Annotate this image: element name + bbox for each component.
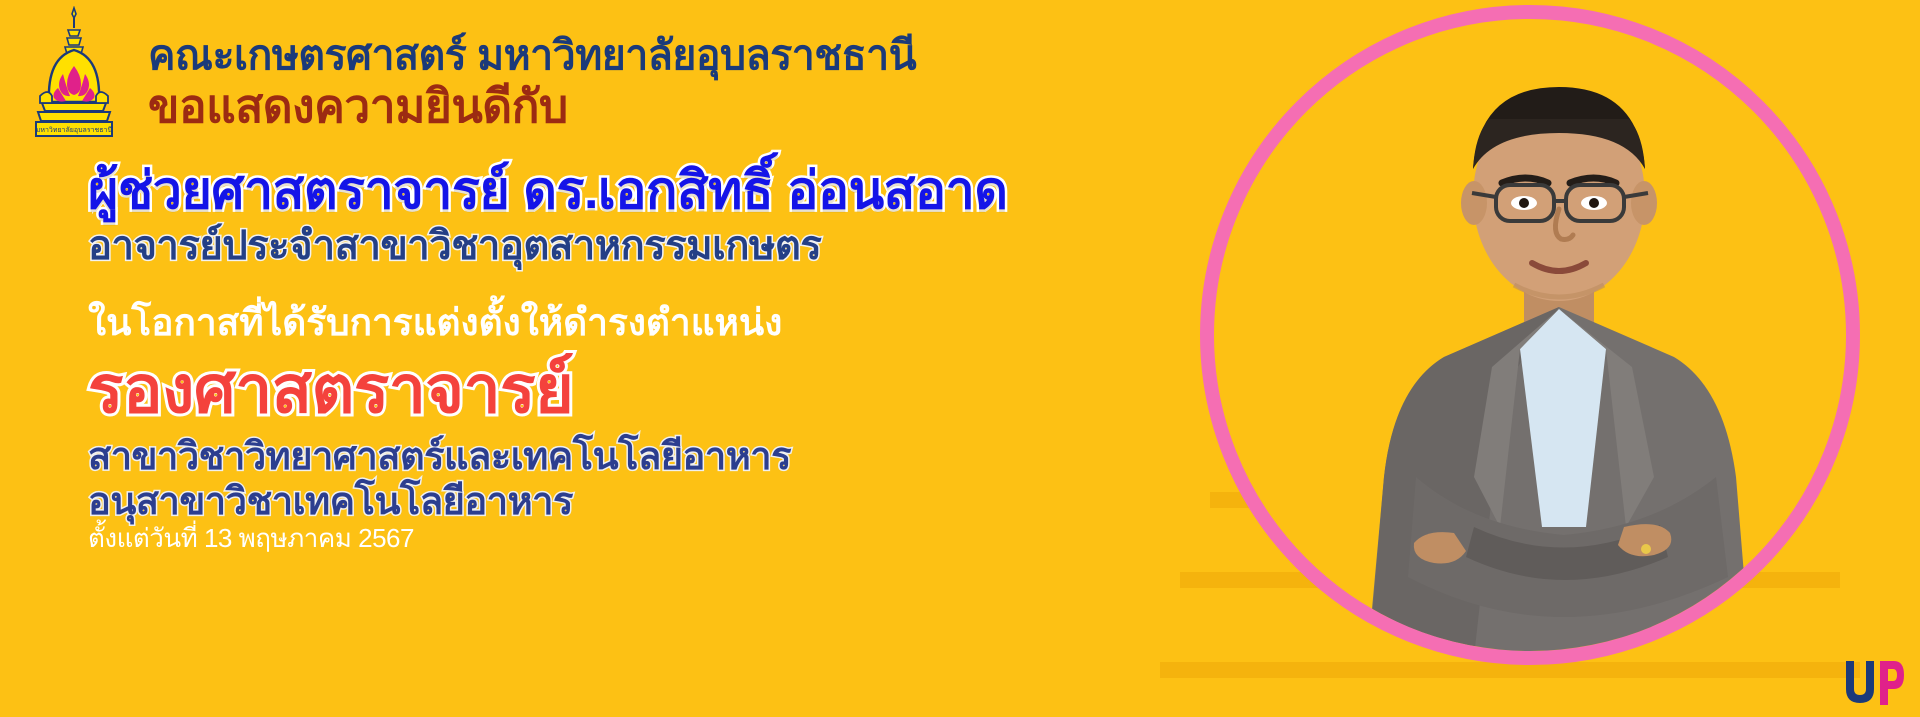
corner-logo-icon [1836, 655, 1906, 711]
congratulations-heading: ขอแสดงความยินดีกับ [148, 70, 568, 143]
honoree-portrait [1324, 57, 1794, 665]
banner-text-block: คณะเกษตรศาสตร์ มหาวิทยาลัยอุบลราชธานี ขอ… [0, 0, 1250, 717]
congratulations-banner: มหาวิทยาลัยอุบลราชธานี คณะเกษตรศาสตร์ มห… [0, 0, 1920, 717]
portrait-area [1200, 5, 1900, 705]
portrait-ring [1200, 5, 1860, 665]
promotion-effective-date: ตั้งแต่วันที่ 13 พฤษภาคม 2567 [88, 518, 414, 559]
honoree-department: อาจารย์ประจำสาขาวิชาอุตสาหกรรมเกษตร [88, 213, 821, 277]
